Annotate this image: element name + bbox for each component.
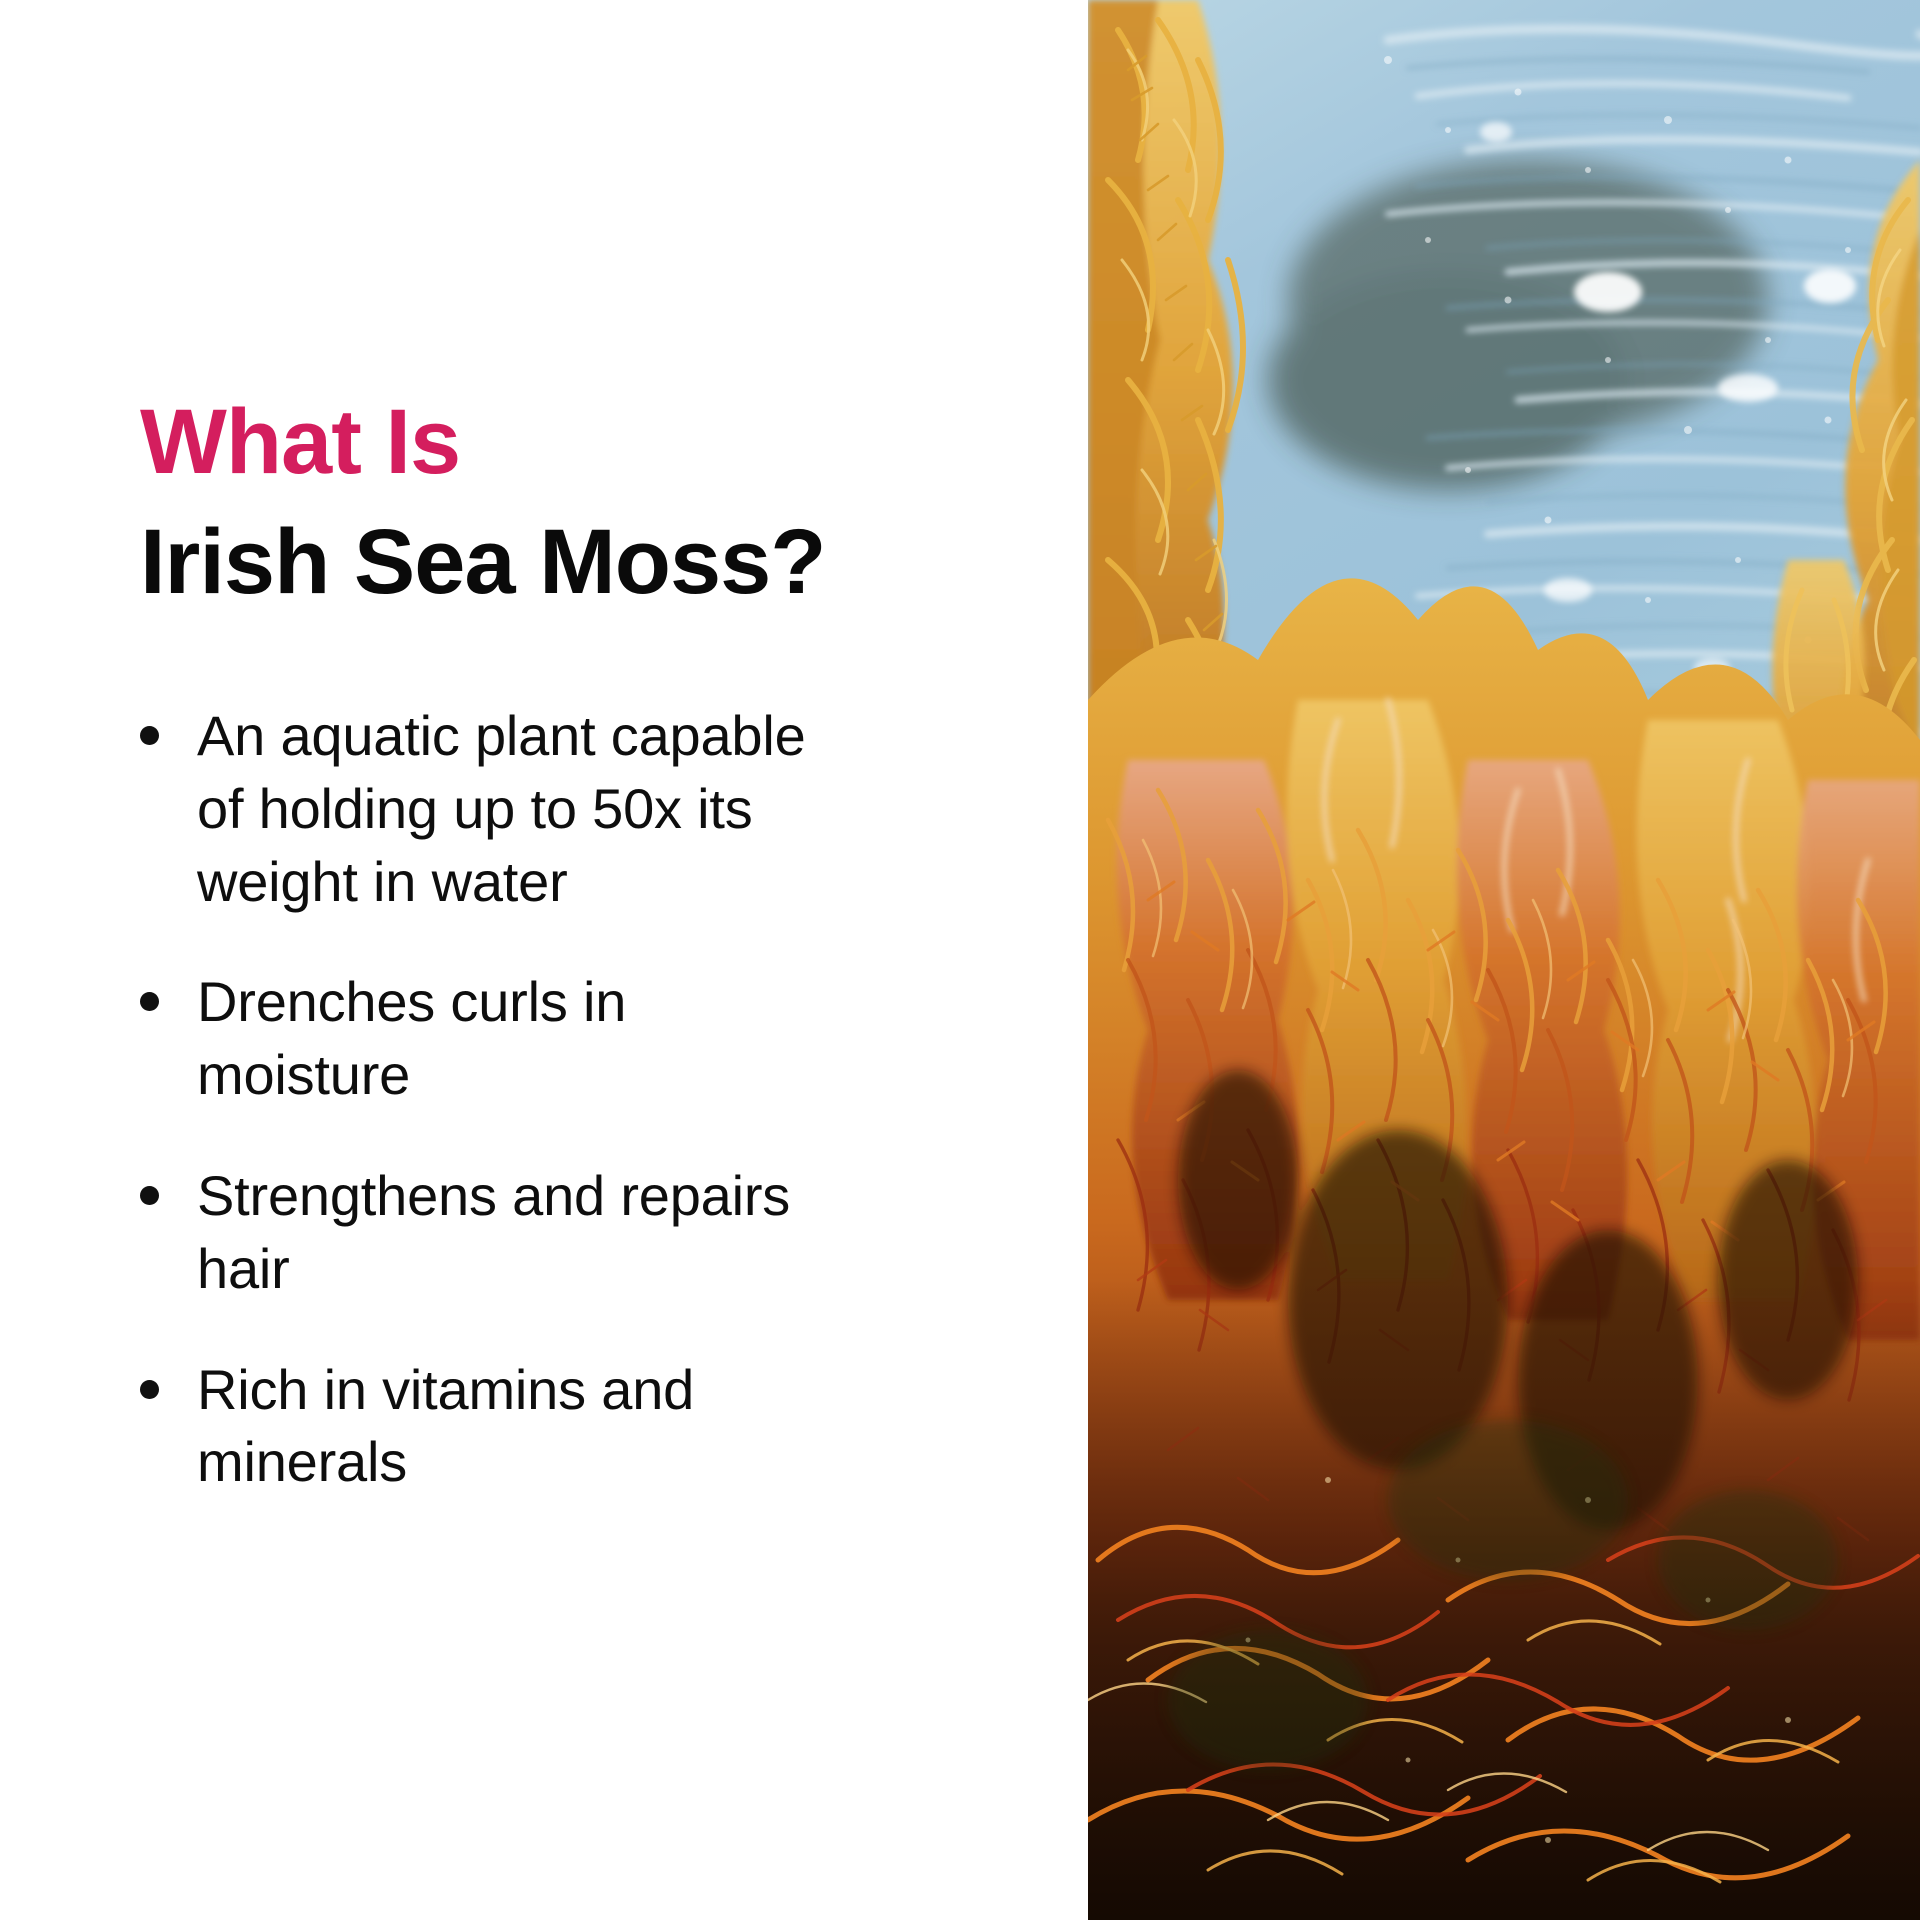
text-panel: What Is Irish Sea Moss? An aquatic plant…	[0, 0, 1088, 1920]
sea-moss-photo-illustration	[1088, 0, 1920, 1920]
bullet-dot-icon	[140, 1380, 159, 1399]
page-title: What Is Irish Sea Moss?	[140, 396, 1028, 608]
list-item-label: Strengthens and repairs hair	[197, 1160, 830, 1306]
list-item: Drenches curls in moisture	[140, 966, 830, 1112]
list-item-label: Rich in vitamins and minerals	[197, 1354, 830, 1500]
sea-moss-photo	[1088, 0, 1920, 1920]
slide-root: What Is Irish Sea Moss? An aquatic plant…	[0, 0, 1920, 1920]
bullet-dot-icon	[140, 1186, 159, 1205]
benefits-list: An aquatic plant capable of holding up t…	[140, 700, 1028, 1499]
list-item: An aquatic plant capable of holding up t…	[140, 700, 830, 918]
heading-line-2: Irish Sea Moss?	[140, 516, 1028, 608]
list-item-label: Drenches curls in moisture	[197, 966, 830, 1112]
bullet-dot-icon	[140, 726, 159, 745]
list-item: Rich in vitamins and minerals	[140, 1354, 830, 1500]
heading-line-1: What Is	[140, 396, 1028, 488]
list-item-label: An aquatic plant capable of holding up t…	[197, 700, 830, 918]
list-item: Strengthens and repairs hair	[140, 1160, 830, 1306]
bullet-dot-icon	[140, 992, 159, 1011]
